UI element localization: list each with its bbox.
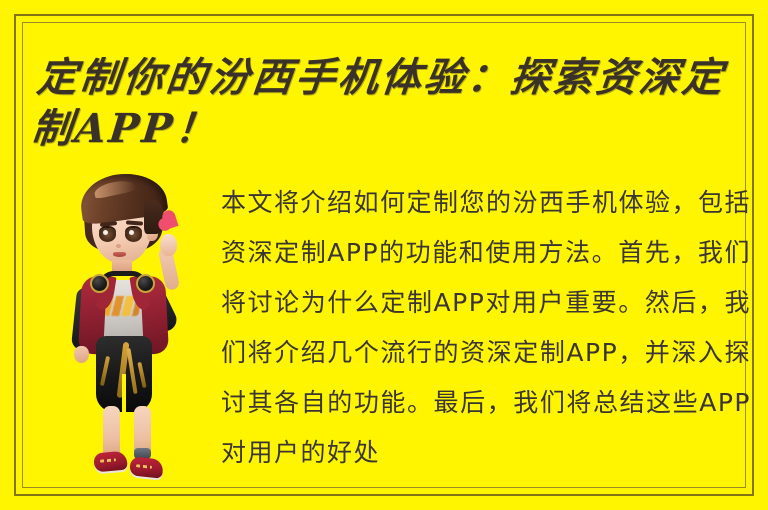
eye-highlight-left xyxy=(103,230,108,235)
leg-left xyxy=(103,406,120,458)
hand-left xyxy=(74,346,89,363)
hand-right-finger-heart xyxy=(160,234,177,256)
character-illustration xyxy=(58,176,208,476)
page-title: 定制你的汾西手机体验：探索资深定制APP！ xyxy=(29,52,740,154)
nose xyxy=(116,244,121,248)
headphone-cup-right xyxy=(136,274,155,293)
headphone-cup-left xyxy=(90,274,109,293)
shorts-inseam-gap xyxy=(122,374,126,412)
poster-canvas: 定制你的汾西手机体验：探索资深定制APP！ 本文将介绍如何定制您的汾西手机体验，… xyxy=(0,0,768,510)
mouth xyxy=(113,252,126,257)
body-paragraph: 本文将介绍如何定制您的汾西手机体验，包括资深定制APP的功能和使用方法。首先，我… xyxy=(221,178,751,478)
eye-highlight-right xyxy=(129,230,134,235)
heart-icon xyxy=(162,214,178,229)
